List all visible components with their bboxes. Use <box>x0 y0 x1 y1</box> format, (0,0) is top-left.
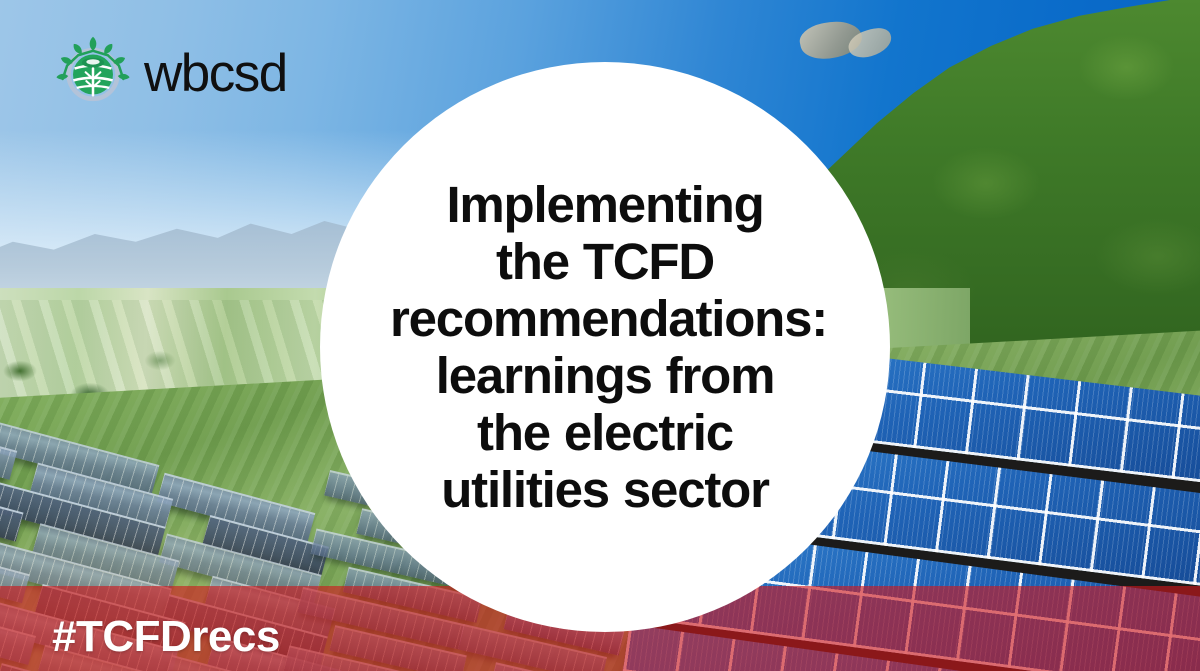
title-line-1: Implementing <box>390 176 820 233</box>
page-title: Implementing the TCFD recommendations: l… <box>390 176 820 519</box>
title-line-4: learnings from <box>390 347 820 404</box>
wbcsd-wordmark: wbcsd <box>144 47 287 100</box>
cover-canvas: #TCFDrecs Implementing the TCFD recommen… <box>0 0 1200 671</box>
wbcsd-globe-leaf-icon <box>56 36 130 110</box>
title-line-6: utilities sector <box>390 461 820 518</box>
wbcsd-logo[interactable]: wbcsd <box>56 36 287 110</box>
hashtag-label: #TCFDrecs <box>52 615 280 659</box>
title-badge: Implementing the TCFD recommendations: l… <box>320 62 890 632</box>
title-line-5: the electric <box>390 404 820 461</box>
title-line-2: the TCFD <box>390 233 820 290</box>
title-line-3: recommendations: <box>390 290 820 347</box>
